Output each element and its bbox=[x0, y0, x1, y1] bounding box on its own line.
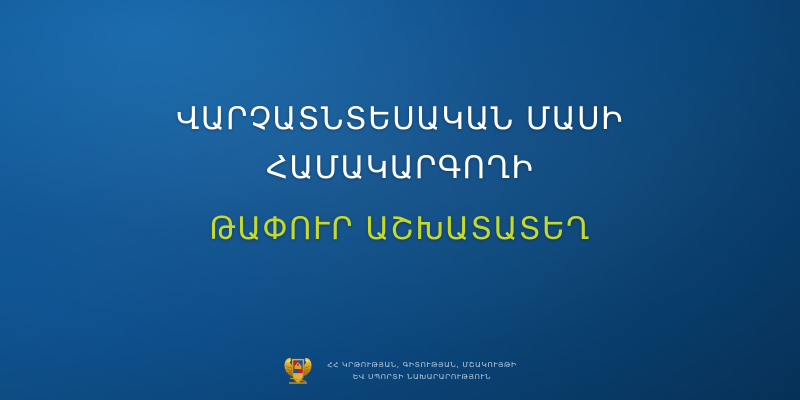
headline-line-2: ՀԱՄԱԿԱՐԳՈՂԻ bbox=[0, 153, 800, 184]
announcement-headline: ՎԱՐՉԱՏՆՏԵՍԱԿԱՆ ՄԱՍԻ ՀԱՄԱԿԱՐԳՈՂԻ ԹԱՓՈՒՐ Ա… bbox=[0, 104, 800, 245]
vacancy-announcement-banner: ՎԱՐՉԱՏՆՏԵՍԱԿԱՆ ՄԱՍԻ ՀԱՄԱԿԱՐԳՈՂԻ ԹԱՓՈՒՐ Ա… bbox=[0, 0, 800, 400]
headline-line-3-accent: ԹԱՓՈՒՐ ԱՇԽԱՏԱՏԵՂ bbox=[0, 214, 800, 245]
headline-line-1: ՎԱՐՉԱՏՆՏԵՍԱԿԱՆ ՄԱՍԻ bbox=[0, 104, 800, 135]
banner-content: ՎԱՐՉԱՏՆՏԵՍԱԿԱՆ ՄԱՍԻ ՀԱՄԱԿԱՐԳՈՂԻ ԹԱՓՈՒՐ Ա… bbox=[0, 0, 800, 400]
